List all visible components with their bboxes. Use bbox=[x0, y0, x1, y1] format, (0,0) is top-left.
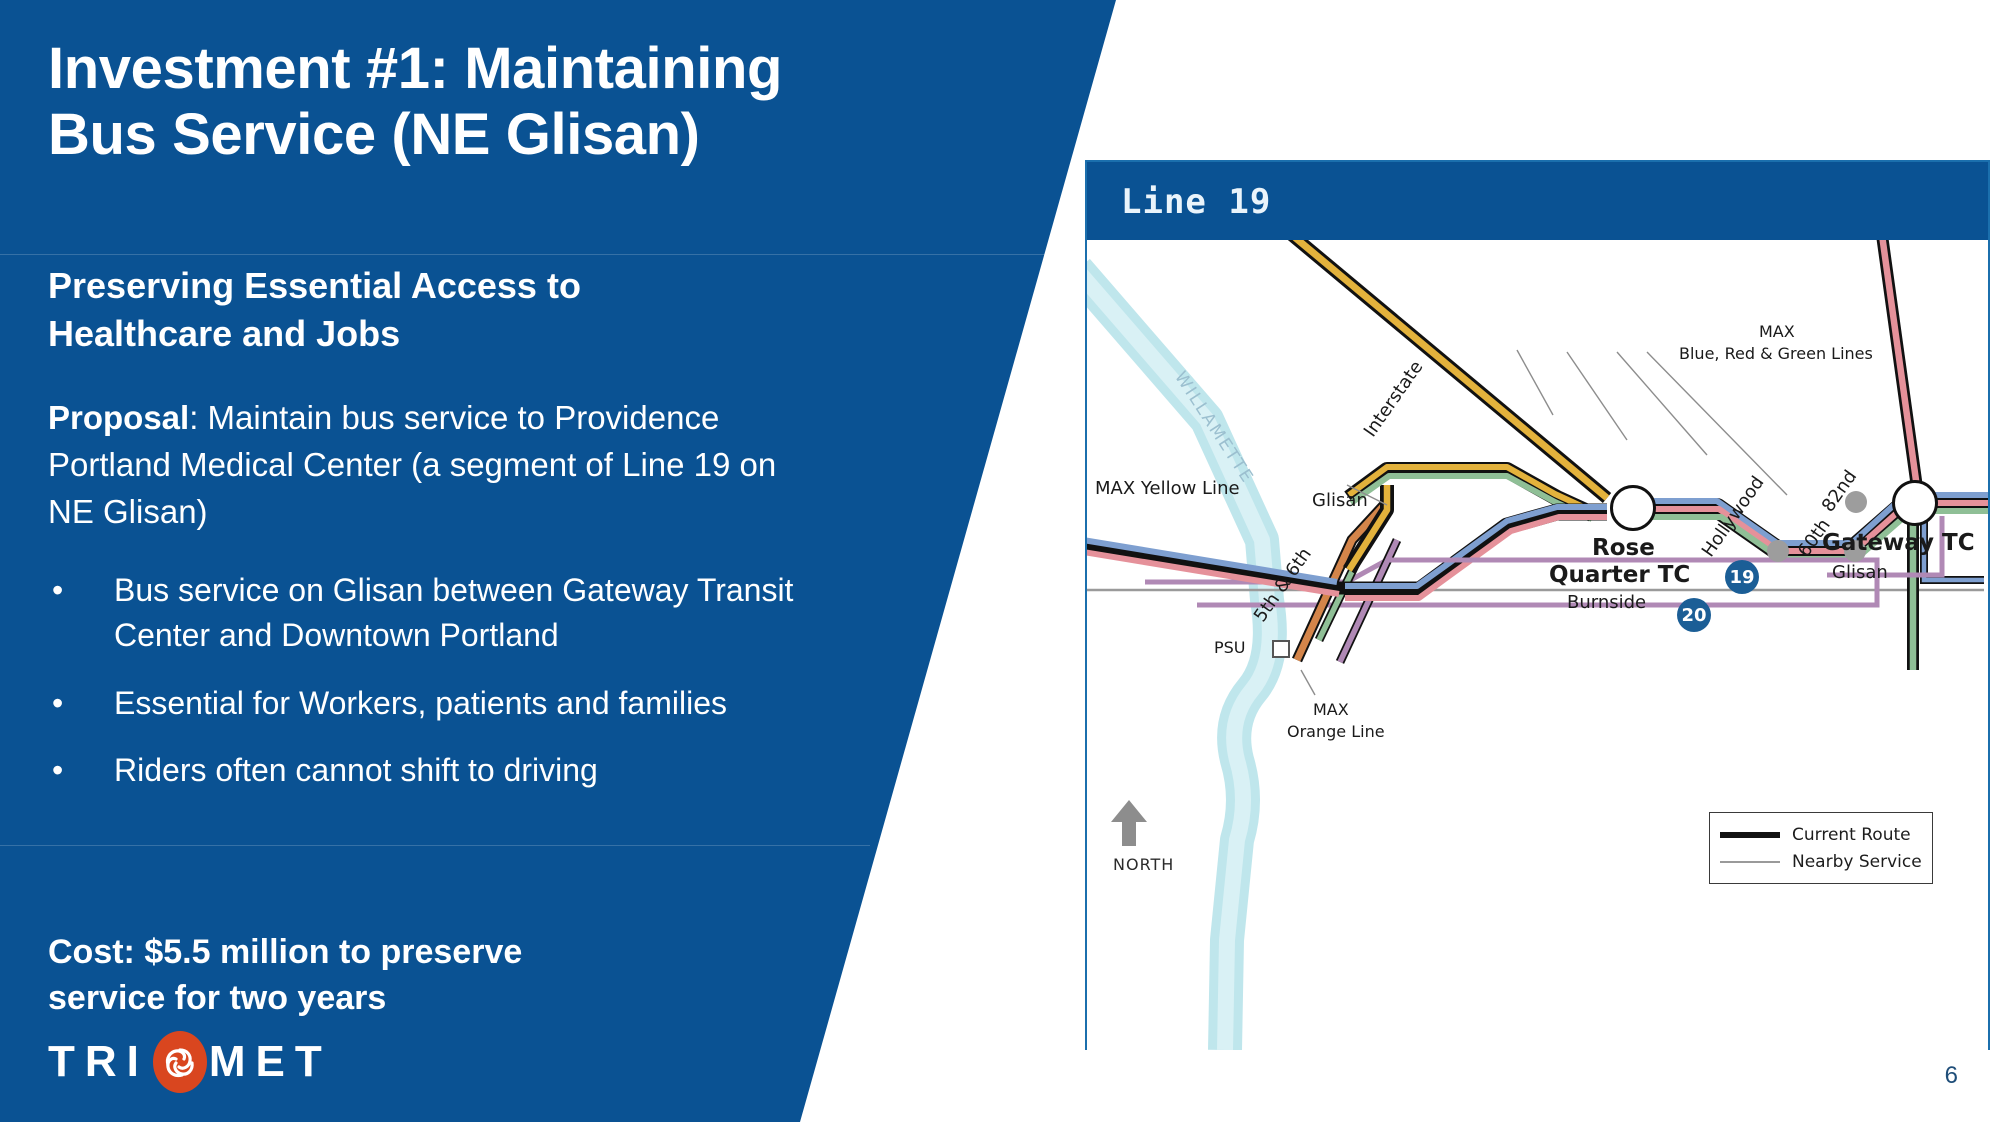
max-blue-red-green-label-2: Blue, Red & Green Lines bbox=[1679, 344, 1873, 363]
bullet-marker-icon: • bbox=[48, 568, 114, 659]
bullet-list: • Bus service on Glisan between Gateway … bbox=[48, 568, 828, 816]
cost-line-1: Cost: $5.5 million to preserve bbox=[48, 930, 748, 976]
map-legend: Current Route Nearby Service bbox=[1709, 812, 1933, 884]
trimet-logo-text-left: TRI bbox=[48, 1040, 149, 1084]
list-item: • Essential for Workers, patients and fa… bbox=[48, 681, 828, 726]
legend-swatch-current-route-icon bbox=[1720, 832, 1780, 838]
psu-station-box bbox=[1272, 640, 1290, 658]
max-blue-red-green-label-1: MAX bbox=[1759, 322, 1795, 341]
proposal-label: Proposal bbox=[48, 399, 189, 436]
slide-subhead: Preserving Essential Access to Healthcar… bbox=[48, 262, 808, 358]
psu-label: PSU bbox=[1214, 638, 1246, 657]
slide-root: Investment #1: Maintaining Bus Service (… bbox=[0, 0, 2000, 1122]
cost-statement: Cost: $5.5 million to preserve service f… bbox=[48, 930, 748, 1022]
slide-title: Investment #1: Maintaining Bus Service (… bbox=[48, 36, 988, 167]
glisan-west-label: Glisan bbox=[1312, 490, 1368, 511]
rose-quarter-tc-label-2: Quarter TC bbox=[1549, 562, 1690, 588]
map-title: Line 19 bbox=[1121, 182, 1271, 222]
max-yellow-line-label: MAX Yellow Line bbox=[1095, 478, 1240, 499]
map-header-bar: Line 19 bbox=[1087, 162, 1988, 240]
rose-quarter-tc-label-1: Rose bbox=[1592, 535, 1655, 561]
burnside-label: Burnside bbox=[1567, 592, 1646, 613]
proposal-paragraph: Proposal: Maintain bus service to Provid… bbox=[48, 395, 828, 536]
gateway-tc-label: Gateway TC bbox=[1822, 530, 1975, 556]
list-item: • Riders often cannot shift to driving bbox=[48, 748, 828, 793]
max-red-airport-line bbox=[1882, 240, 1919, 502]
rose-glyph-icon bbox=[162, 1044, 198, 1080]
legend-item-current-route: Current Route bbox=[1720, 821, 1922, 848]
trimet-logo-text-right: MET bbox=[209, 1040, 332, 1084]
trimet-rose-icon bbox=[153, 1031, 207, 1093]
cost-line-2: service for two years bbox=[48, 976, 748, 1022]
max-orange-line-label-1: MAX bbox=[1313, 700, 1349, 719]
legend-label-nearby-service: Nearby Service bbox=[1792, 852, 1922, 872]
north-indicator: NORTH bbox=[1107, 798, 1217, 874]
panel-divider-top bbox=[0, 254, 1050, 255]
trimet-logo: TRI MET bbox=[48, 1030, 332, 1094]
legend-swatch-nearby-service-icon bbox=[1720, 861, 1780, 863]
max-orange-line-label-2: Orange Line bbox=[1287, 722, 1385, 741]
north-arrow-icon bbox=[1107, 798, 1151, 848]
glisan-east-label: Glisan bbox=[1832, 562, 1888, 583]
legend-label-current-route: Current Route bbox=[1792, 825, 1911, 845]
map-body: WILLAMETTE Interstate MAX Yellow Line Gl… bbox=[1087, 240, 1988, 1050]
line-19-map-card: Line 19 bbox=[1085, 160, 1990, 1050]
gateway-tc-node bbox=[1892, 480, 1938, 526]
bullet-marker-icon: • bbox=[48, 748, 114, 793]
interstate-yellow-line bbox=[1292, 240, 1607, 498]
proposal-separator: : bbox=[189, 399, 207, 436]
list-item: • Bus service on Glisan between Gateway … bbox=[48, 568, 828, 659]
slide-title-line-2: Bus Service (NE Glisan) bbox=[48, 102, 988, 168]
page-number: 6 bbox=[1945, 1062, 1958, 1090]
panel-divider-bottom bbox=[0, 845, 870, 846]
north-label: NORTH bbox=[1107, 855, 1217, 874]
route-badge-19[interactable]: 19 bbox=[1725, 560, 1759, 594]
legend-item-nearby-service: Nearby Service bbox=[1720, 848, 1922, 875]
route-badge-20[interactable]: 20 bbox=[1677, 598, 1711, 632]
bullet-text: Bus service on Glisan between Gateway Tr… bbox=[114, 568, 828, 659]
bullet-text: Essential for Workers, patients and fami… bbox=[114, 681, 828, 726]
slide-title-line-1: Investment #1: Maintaining bbox=[48, 36, 988, 102]
bullet-marker-icon: • bbox=[48, 681, 114, 726]
slide-subhead-line-2: Healthcare and Jobs bbox=[48, 310, 808, 358]
slide-subhead-line-1: Preserving Essential Access to bbox=[48, 262, 808, 310]
bullet-text: Riders often cannot shift to driving bbox=[114, 748, 828, 793]
